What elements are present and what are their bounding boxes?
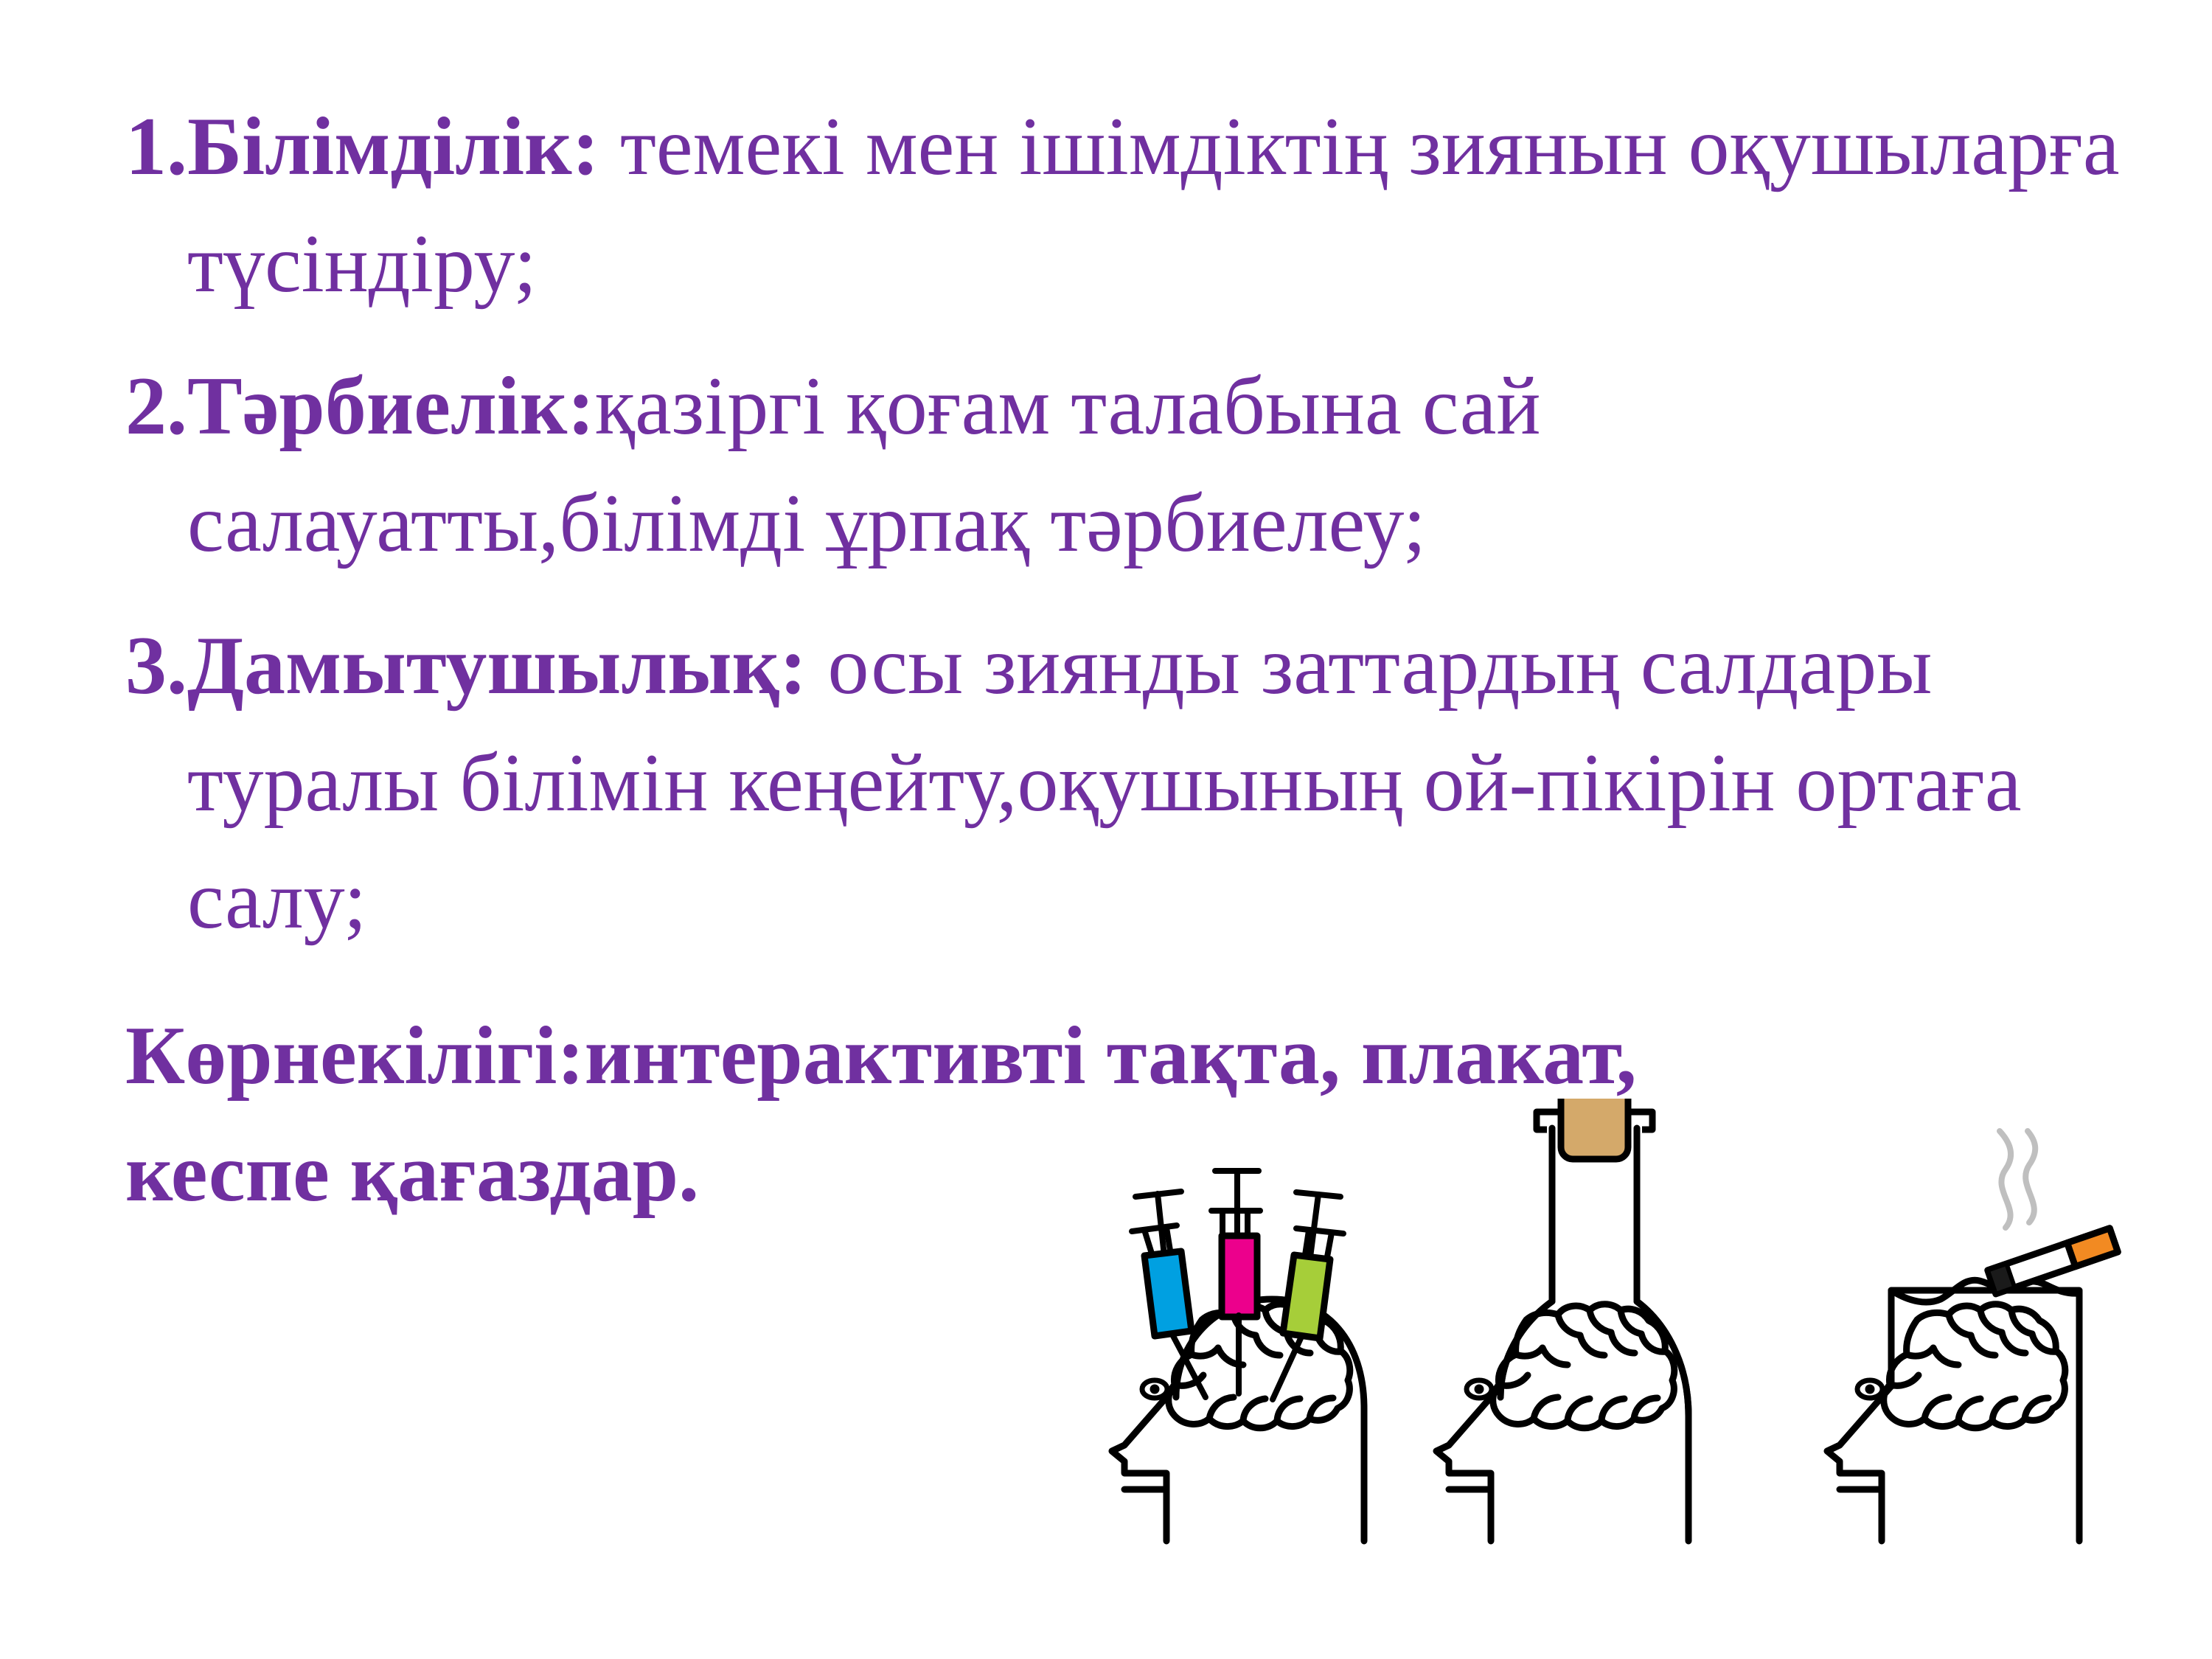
syringe-green [1273,1192,1343,1399]
bullet-text: Білімділік: темекі мен ішімдіктің зиянын… [187,88,2160,323]
illustration-group [1054,1099,2205,1659]
bullet-lead: Дамытушылық: [187,620,807,712]
brain-shape [1884,1304,2065,1428]
smoke-wisps [2000,1131,2035,1228]
eye-icon [1467,1380,1492,1398]
head-with-syringes-figure [1112,1171,1364,1541]
bullet-lead: Білімділік: [187,101,599,192]
bullet-lead: Тәрбиелік: [187,361,595,452]
bullet-text: Дамытушылық: осы зиянды заттардың салдар… [187,608,2160,959]
eye-icon [1857,1380,1882,1398]
bullet-marker: 2. [125,348,187,465]
bullet-marker: 1. [125,88,187,206]
bullet-item: 1. Білімділік: темекі мен ішімдіктің зия… [125,88,2160,323]
text-content-block: 1. Білімділік: темекі мен ішімдіктің зия… [125,88,2160,1232]
eye-icon [1142,1380,1167,1398]
cigarette-icon [1988,1228,2118,1294]
bullet-item: 2. Тәрбиелік:қазіргі қоғам талабына сай … [125,348,2160,582]
brain-shape [1493,1304,1674,1428]
bottle-head-outline [1436,1128,1688,1541]
head-as-ashtray-figure [1827,1131,2118,1541]
slide-canvas: 1. Білімділік: темекі мен ішімдіктің зия… [0,0,2212,1659]
syringe-blue [1132,1192,1206,1397]
bullet-item: 3. Дамытушылық: осы зиянды заттардың сал… [125,608,2160,959]
bullet-marker: 3. [125,608,187,725]
bullet-text: Тәрбиелік:қазіргі қоғам талабына сай сал… [187,348,2160,582]
bottle-cork [1561,1099,1628,1159]
head-as-bottle-figure [1436,1099,1688,1541]
syringe-magenta [1211,1171,1260,1394]
